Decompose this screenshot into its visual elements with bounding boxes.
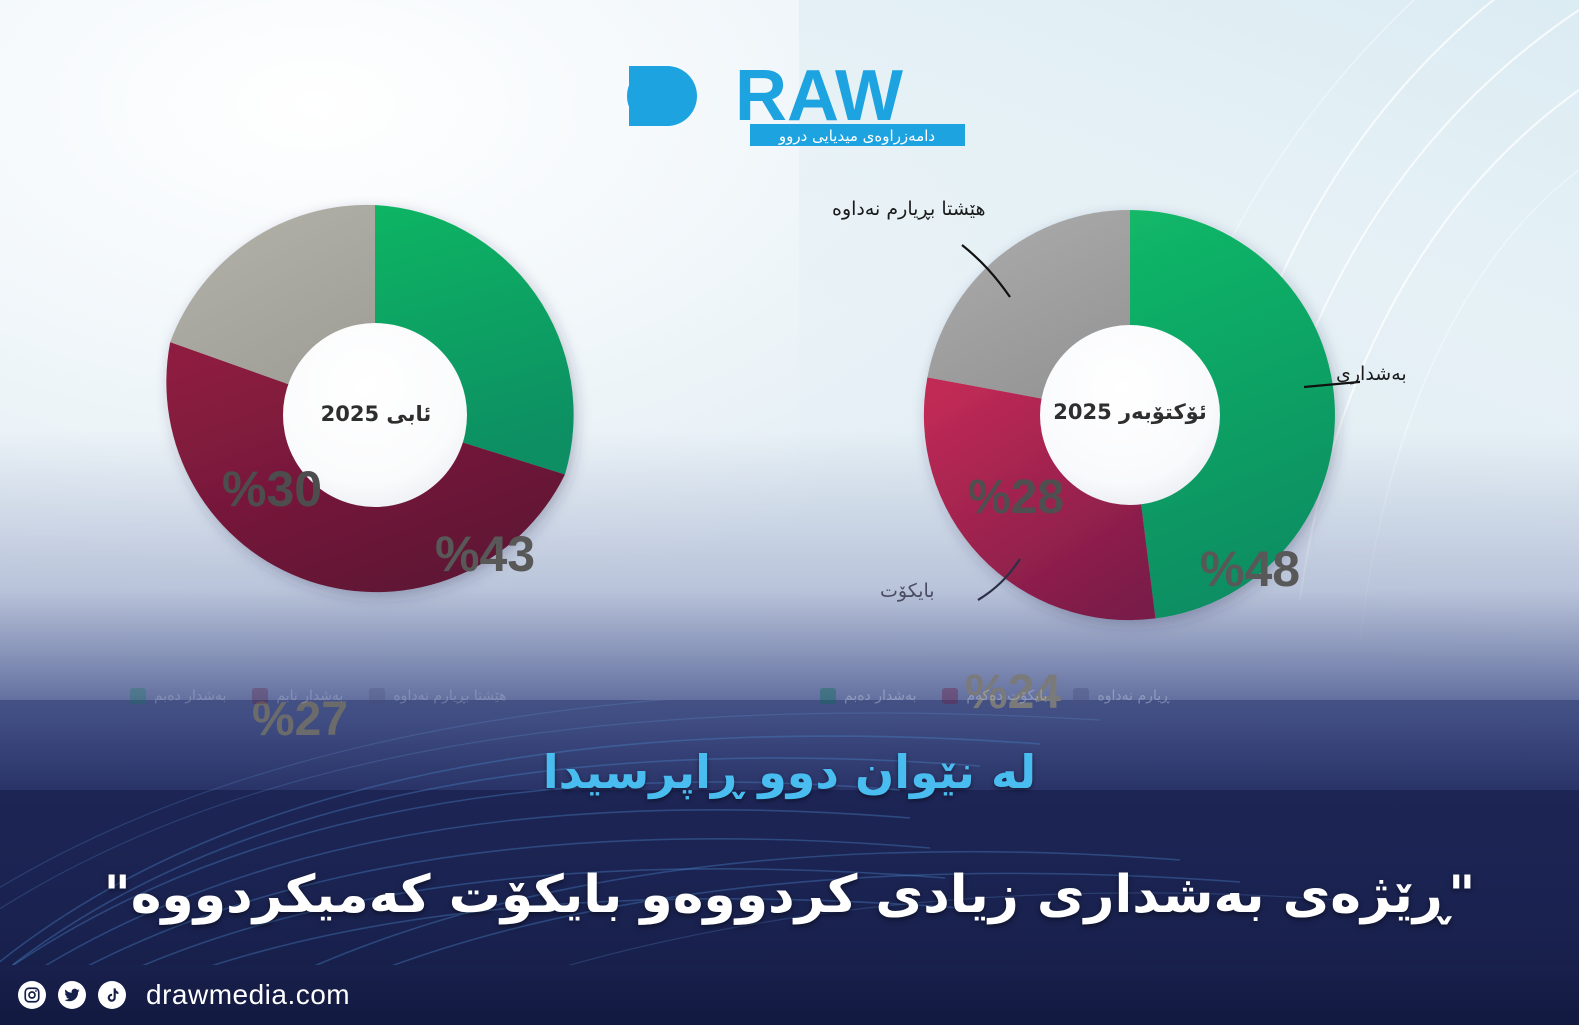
value-label-participate-august: %43 xyxy=(435,525,535,583)
value-label-undecided-august: %30 xyxy=(222,460,322,518)
legend-item-label: ڕیارم نەداوە xyxy=(1097,688,1169,704)
legend-item[interactable]: بایکۆت دەکەم xyxy=(942,688,1047,704)
legend-august: بەشدار دەبم بەشدار نابم هێشتا بڕیارم نەد… xyxy=(130,688,640,704)
tiktok-icon[interactable] xyxy=(98,981,126,1009)
infographic-canvas: RAW دامەزراوەی میدیایی دروو xyxy=(0,0,1579,1025)
legend-item-label: بەشدار دەبم xyxy=(154,688,226,704)
main-headline: "ڕێژەی بەشداری زیادی کردووەو بایکۆت کەمی… xyxy=(0,865,1579,925)
legend-item-label: بەشدار دەبم xyxy=(844,688,916,704)
legend-item[interactable]: ڕیارم نەداوە xyxy=(1073,688,1169,704)
donut-chart-october: %48 %28 %24 ئۆکتۆبەر 2025 xyxy=(900,185,1360,645)
callout-boycott-october: بایکۆت xyxy=(880,580,935,602)
value-label-undecided-october: %28 xyxy=(968,470,1064,525)
logo-mark: RAW دامەزراوەی میدیایی دروو xyxy=(595,40,975,155)
legend-swatch-red xyxy=(252,688,268,704)
legend-item[interactable]: بەشدار نابم xyxy=(252,688,343,704)
twitter-icon[interactable] xyxy=(58,981,86,1009)
draw-media-logo: RAW دامەزراوەی میدیایی دروو xyxy=(595,40,975,155)
website-url[interactable]: drawmedia.com xyxy=(146,979,350,1011)
legend-item[interactable]: بەشدار دەبم xyxy=(820,688,916,704)
callout-undecided-october: هێشتا بڕیارم نەداوە xyxy=(832,198,986,220)
value-label-participate-october: %48 xyxy=(1200,540,1300,598)
legend-swatch-green xyxy=(820,688,836,704)
legend-item-label: بەشدار نابم xyxy=(276,688,343,704)
legend-swatch-gray xyxy=(1073,688,1089,704)
legend-item[interactable]: بەشدار دەبم xyxy=(130,688,226,704)
legend-swatch-gray xyxy=(369,688,385,704)
logo-tagline: دامەزراوەی میدیایی دروو xyxy=(778,127,935,145)
footer: drawmedia.com xyxy=(18,979,350,1011)
center-label-august: ئابی 2025 xyxy=(292,402,460,426)
legend-item[interactable]: هێشتا بڕیارم نەداوە xyxy=(369,688,506,704)
legend-october: بەشدار دەبم بایکۆت دەکەم ڕیارم نەداوە xyxy=(820,688,1340,704)
instagram-icon[interactable] xyxy=(18,981,46,1009)
legend-item-label: هێشتا بڕیارم نەداوە xyxy=(393,688,506,704)
sub-headline: لە نێوان دوو ڕاپرسیدا xyxy=(0,745,1579,799)
legend-swatch-red xyxy=(942,688,958,704)
legend-item-label: بایکۆت دەکەم xyxy=(966,688,1047,704)
callout-participation-october: بەشداری xyxy=(1336,363,1407,385)
donut-chart-august: %43 %30 %27 ئابی 2025 xyxy=(140,180,610,650)
legend-swatch-green xyxy=(130,688,146,704)
center-label-october: ئۆکتۆبەر 2025 xyxy=(1040,400,1220,424)
